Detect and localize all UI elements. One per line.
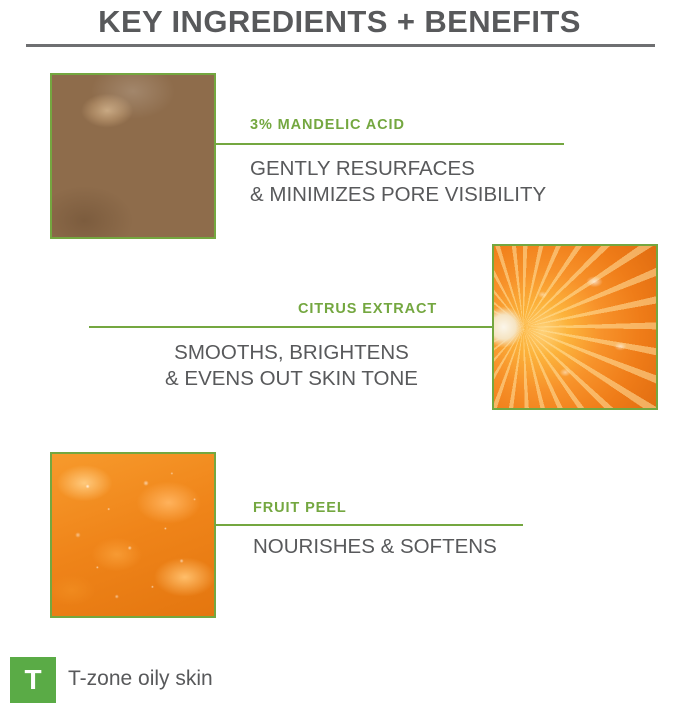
ingredient-image-orange-slice bbox=[492, 244, 658, 410]
almonds-photo bbox=[52, 75, 214, 237]
ingredient-divider-fruit-peel bbox=[216, 524, 523, 526]
ingredient-description-fruit-peel-line1: NOURISHES & SOFTENS bbox=[253, 534, 497, 560]
ingredient-description-mandelic-acid-line1: GENTLY RESURFACES bbox=[250, 156, 475, 182]
ingredient-name-fruit-peel: FRUIT PEEL bbox=[253, 500, 347, 516]
ingredient-image-almonds bbox=[50, 73, 216, 239]
ingredient-image-fruit-peel bbox=[50, 452, 216, 618]
ingredient-divider-citrus-extract bbox=[89, 326, 494, 328]
ingredient-description-citrus-extract-line2: & EVENS OUT SKIN TONE bbox=[89, 366, 494, 392]
ingredient-name-mandelic-acid: 3% MANDELIC ACID bbox=[250, 117, 405, 133]
t-zone-label: T-zone oily skin bbox=[68, 667, 213, 691]
ingredient-name-citrus-extract: CITRUS EXTRACT bbox=[298, 301, 437, 317]
ingredient-divider-mandelic-acid bbox=[216, 143, 564, 145]
t-zone-badge: T bbox=[10, 657, 56, 703]
orange-slice-photo bbox=[494, 246, 656, 408]
ingredient-description-citrus-extract-line1: SMOOTHS, BRIGHTENS bbox=[89, 340, 494, 366]
ingredient-description-mandelic-acid-line2: & MINIMIZES PORE VISIBILITY bbox=[250, 182, 546, 208]
page-title: KEY INGREDIENTS + BENEFITS bbox=[0, 0, 679, 40]
title-divider bbox=[26, 44, 655, 47]
fruit-peel-photo bbox=[52, 454, 214, 616]
